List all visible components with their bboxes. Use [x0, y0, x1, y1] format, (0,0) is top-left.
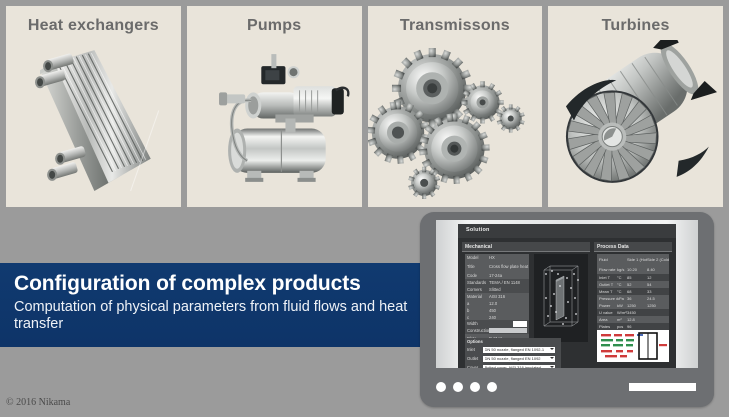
- mechanical-pane: Mechanical Model HX Title Cross flow pla…: [462, 242, 590, 364]
- product-panel-pumps[interactable]: Pumps: [187, 6, 362, 207]
- 3d-model-viewport[interactable]: [534, 254, 588, 342]
- flow-schematic-diagram[interactable]: [597, 330, 669, 362]
- panel-title-turbines: Turbines: [548, 17, 723, 35]
- table-row[interactable]: Area m² 12.8: [597, 316, 669, 323]
- width-label: Width: [467, 321, 478, 326]
- app-title: Solution: [466, 227, 490, 233]
- mechanical-pane-header: Mechanical: [462, 242, 590, 252]
- column-header-side2: Side 2 (Cold): [647, 257, 669, 262]
- cell-side1: 10.20: [627, 267, 647, 272]
- product-panel-heat-exchangers[interactable]: Heat exchangers: [6, 6, 181, 207]
- table-row[interactable]: Flow rate kg/s 10.20 8.40: [597, 264, 669, 274]
- dimension-input-group: Width Construction: [465, 320, 529, 334]
- slide-canvas: Heat exchangers: [0, 0, 729, 417]
- tablet-bottom-bezel: [420, 368, 714, 407]
- cell-side1: 1250: [627, 303, 647, 308]
- cell-side1: 68: [627, 289, 647, 294]
- chevron-down-icon: [550, 348, 554, 350]
- turbine-image: [548, 40, 723, 201]
- table-row[interactable]: Power kW 1250 1250: [597, 302, 669, 309]
- cell-side2: 8.40: [647, 267, 669, 272]
- table-row[interactable]: Corners Slitted: [465, 286, 529, 293]
- cell-side2: 33: [647, 289, 669, 294]
- cell-side2: 24.5: [647, 296, 669, 301]
- process-data-pane-header: Process Data: [594, 242, 672, 252]
- table-row[interactable]: Model HX: [465, 254, 529, 261]
- device-indicator-dots[interactable]: [436, 382, 497, 392]
- panel-title-heat-exchangers: Heat exchangers: [6, 17, 181, 35]
- panel-title-transmissions: Transmissons: [368, 17, 543, 35]
- property-key: b: [465, 308, 489, 313]
- table-row[interactable]: Outlet T °C 52 54: [597, 281, 669, 288]
- product-panel-turbines[interactable]: Turbines: [548, 6, 723, 207]
- property-value: Cross flow plate heat exchanger: [489, 264, 529, 269]
- product-panel-row: Heat exchangers: [6, 6, 723, 207]
- option-dropdown[interactable]: DN 50 nozzle, flanged EN 1092-1: [483, 347, 555, 353]
- table-row[interactable]: Mean T °C 68 33: [597, 288, 669, 295]
- property-key: Code: [465, 273, 489, 278]
- table-row[interactable]: Code 17-24a: [465, 272, 529, 279]
- heat-exchanger-image: [6, 40, 181, 201]
- indicator-dot[interactable]: [487, 382, 497, 392]
- property-value: Slitted: [489, 287, 529, 292]
- table-row[interactable]: Inlet T °C 85 12: [597, 274, 669, 281]
- cell-unit: °C: [617, 289, 627, 294]
- table-row[interactable]: Pressure drop kPa 36 24.5: [597, 295, 669, 302]
- cell-unit: kg/s: [617, 267, 627, 272]
- pump-image: [187, 40, 362, 201]
- cell-unit: kW: [617, 303, 627, 308]
- property-value: HX: [489, 255, 529, 260]
- title-banner: Configuration of complex products Comput…: [0, 263, 425, 347]
- option-value: DN 50 nozzle, flanged EN 1092: [485, 356, 547, 361]
- property-value: TEMA / EN 1148: [489, 280, 529, 285]
- cell-parameter: Inlet T: [597, 275, 617, 280]
- table-row[interactable]: Fluid Side 1 (Hot) Side 2 (Cold): [597, 254, 669, 264]
- chevron-down-icon: [550, 357, 554, 359]
- banner-subtitle: Computation of physical parameters from …: [14, 299, 411, 333]
- table-row[interactable]: Title Cross flow plate heat exchanger: [465, 261, 529, 272]
- indicator-dot[interactable]: [453, 382, 463, 392]
- cell-parameter: Area: [597, 317, 617, 322]
- process-data-pane: Process Data Fluid Side 1 (Hot) Side 2 (…: [594, 242, 672, 364]
- gears-image: [368, 40, 543, 201]
- option-value: DN 50 nozzle, flanged EN 1092-1: [485, 347, 547, 352]
- cell-side1: 3450: [627, 310, 647, 315]
- option-label: Inlet: [467, 347, 481, 352]
- tablet-screen[interactable]: Solution Mechanical Model HX Title Cross: [436, 220, 698, 368]
- copyright-notice: © 2016 Nikama: [6, 397, 70, 408]
- construction-label: Construction: [467, 328, 491, 333]
- cell-parameter: Power: [597, 303, 617, 308]
- indicator-dot[interactable]: [436, 382, 446, 392]
- cell-unit: W/m²K: [617, 310, 627, 315]
- banner-title: Configuration of complex products: [14, 272, 411, 296]
- cell-parameter: Flow rate: [597, 267, 617, 272]
- tablet-device: Solution Mechanical Model HX Title Cross: [420, 212, 714, 407]
- property-key: Title: [465, 264, 489, 269]
- panel-title-pumps: Pumps: [187, 17, 362, 35]
- table-row[interactable]: Plates pcs 96: [597, 323, 669, 330]
- app-titlebar: [458, 224, 676, 238]
- width-input[interactable]: [513, 321, 527, 327]
- property-key: Standards: [465, 280, 489, 285]
- cell-parameter: Outlet T: [597, 282, 617, 287]
- cell-unit: kPa: [617, 296, 627, 301]
- software-application: Solution Mechanical Model HX Title Cross: [458, 224, 676, 368]
- option-row-inlet: Inlet DN 50 nozzle, flanged EN 1092-1: [467, 346, 555, 353]
- cell-side1: 52: [627, 282, 647, 287]
- product-panel-transmissions[interactable]: Transmissons: [368, 6, 543, 207]
- cell-side1: 36: [627, 296, 647, 301]
- table-row[interactable]: b 450: [465, 307, 529, 314]
- cell-unit: m²: [617, 317, 627, 322]
- process-data-pane-label: Process Data: [597, 244, 629, 250]
- cell-parameter: Fluid: [597, 257, 617, 262]
- cell-side1: 85: [627, 275, 647, 280]
- table-row[interactable]: Material AISI 316: [465, 293, 529, 300]
- table-row[interactable]: Standards TEMA / EN 1148: [465, 279, 529, 286]
- cell-unit: °C: [617, 282, 627, 287]
- table-row[interactable]: a 12.0: [465, 300, 529, 307]
- cell-parameter: Plates: [597, 324, 617, 329]
- option-dropdown[interactable]: DN 50 nozzle, flanged EN 1092: [483, 356, 555, 362]
- property-key: a: [465, 301, 489, 306]
- table-row[interactable]: U value W/m²K 3450: [597, 309, 669, 316]
- options-group-label: Options: [467, 339, 483, 344]
- construction-select[interactable]: [489, 328, 527, 333]
- property-value: 12.0: [489, 301, 529, 306]
- cell-side2: 1250: [647, 303, 669, 308]
- property-key: Model: [465, 255, 489, 260]
- cell-unit: °C: [617, 275, 627, 280]
- property-key: Material: [465, 294, 489, 299]
- option-row-outlet: Outlet DN 50 nozzle, flanged EN 1092: [467, 355, 555, 362]
- property-value: 450: [489, 308, 529, 313]
- device-home-bar[interactable]: [629, 383, 696, 391]
- cell-parameter: Mean T: [597, 289, 617, 294]
- indicator-dot[interactable]: [470, 382, 480, 392]
- cell-side2: 12: [647, 275, 669, 280]
- property-value: 17-24a: [489, 273, 529, 278]
- options-group: Options Inlet DN 50 nozzle, flanged EN 1…: [465, 338, 561, 368]
- property-value: AISI 316: [489, 294, 529, 299]
- property-key: Corners: [465, 287, 489, 292]
- column-header-side1: Side 1 (Hot): [627, 257, 647, 262]
- cell-parameter: Pressure drop: [597, 296, 617, 301]
- cell-parameter: U value: [597, 310, 617, 315]
- cell-side1: 96: [627, 324, 647, 329]
- option-label: Outlet: [467, 356, 481, 361]
- cell-side1: 12.8: [627, 317, 647, 322]
- process-data-table: Fluid Side 1 (Hot) Side 2 (Cold) Flow ra…: [597, 254, 669, 337]
- mechanical-pane-label: Mechanical: [465, 244, 492, 250]
- cell-unit: pcs: [617, 324, 627, 329]
- cell-side2: 54: [647, 282, 669, 287]
